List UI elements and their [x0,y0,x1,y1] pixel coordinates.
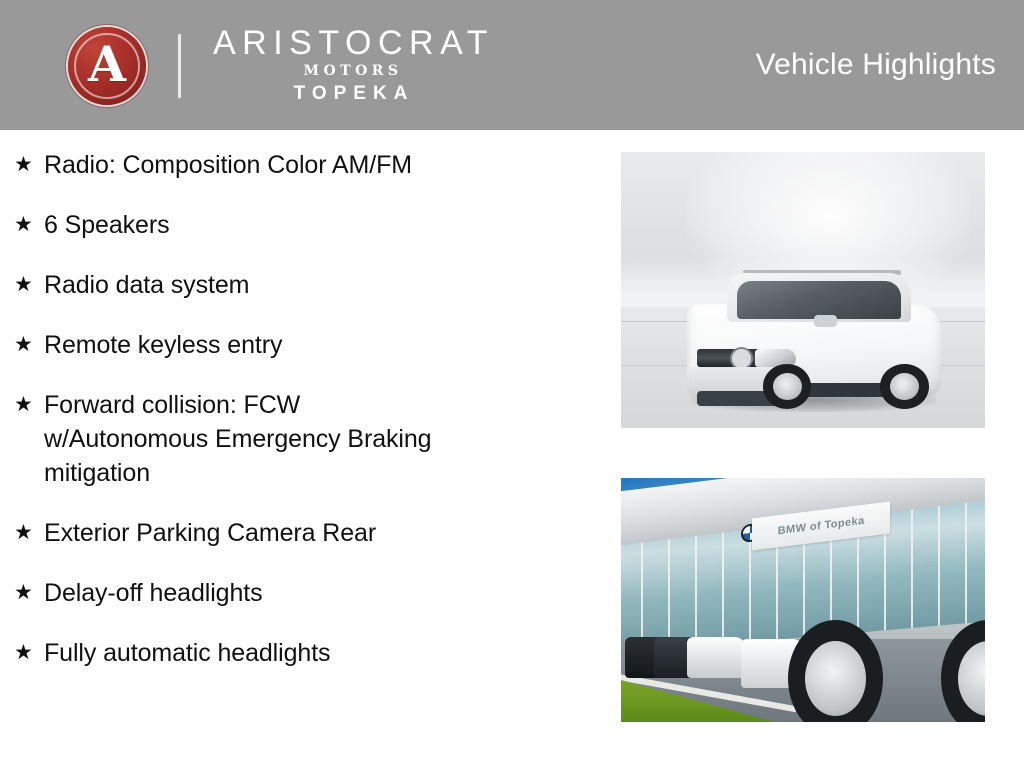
list-item: ★ Radio data system [14,268,604,302]
brand-divider [178,34,181,98]
list-item-label: Radio: Composition Color AM/FM [44,148,412,182]
vehicle-photo [621,152,985,428]
brand-lockup: A ARISTOCRAT MOTORS TOPEKA [68,26,494,106]
suv-illustration [687,260,942,409]
star-bullet-icon: ★ [14,268,44,301]
list-item-label: Fully automatic headlights [44,636,330,670]
list-item-label: Delay-off headlights [44,576,263,610]
list-item: ★ Radio: Composition Color AM/FM [14,148,604,182]
list-item-label: Forward collision: FCW w/Autonomous Emer… [44,388,431,490]
star-bullet-icon: ★ [14,208,44,241]
list-item: ★ Delay-off headlights [14,576,604,610]
list-item-label: Exterior Parking Camera Rear [44,516,376,550]
list-item: ★ 6 Speakers [14,208,604,242]
star-bullet-icon: ★ [14,576,44,609]
suv-windshield [737,281,900,320]
list-item: ★ Fully automatic headlights [14,636,604,670]
list-item-label: 6 Speakers [44,208,169,242]
dealership-sign-text: BMW of Topeka [778,514,865,537]
car-wheel [788,620,883,722]
suv-mirror [814,315,837,327]
aristocrat-emblem-icon: A [68,27,146,105]
brand-wordmark: ARISTOCRAT MOTORS TOPEKA [207,26,494,105]
brand-city: TOPEKA [287,82,415,106]
star-bullet-icon: ★ [14,148,44,181]
suv-front-wheel [763,364,811,409]
star-bullet-icon: ★ [14,636,44,669]
emblem-letter: A [88,40,126,89]
list-item: ★ Remote keyless entry [14,328,604,362]
star-bullet-icon: ★ [14,516,44,549]
page-header: A ARISTOCRAT MOTORS TOPEKA Vehicle Highl… [0,0,1024,130]
dealership-photo: BMW of Topeka [621,478,985,722]
suv-rear-wheel [880,364,928,409]
vehicle-highlights-list: ★ Radio: Composition Color AM/FM ★ 6 Spe… [14,148,604,696]
list-item: ★ Forward collision: FCW w/Autonomous Em… [14,388,604,490]
list-item-label: Radio data system [44,268,249,302]
page-title: Vehicle Highlights [756,48,996,82]
star-bullet-icon: ★ [14,328,44,361]
lot-car [687,637,745,678]
brand-segment: MOTORS [298,62,402,82]
brand-name: ARISTOCRAT [207,26,494,62]
list-item: ★ Exterior Parking Camera Rear [14,516,604,550]
star-bullet-icon: ★ [14,388,44,421]
car-wheel [941,620,985,722]
list-item-label: Remote keyless entry [44,328,282,362]
